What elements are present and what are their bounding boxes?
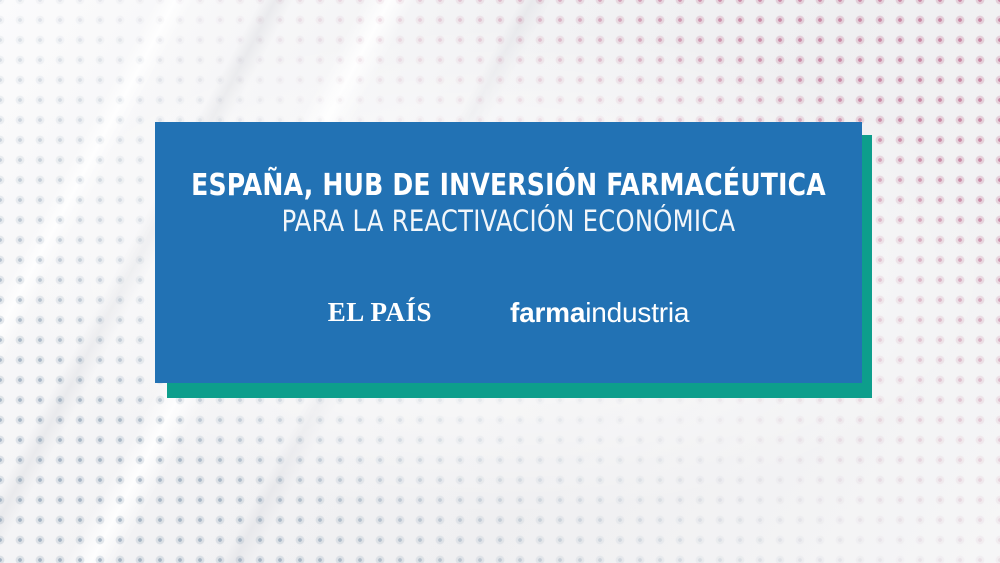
logo-farmaindustria: farmaindustria — [510, 297, 689, 329]
logo-farmaindustria-light-part: industria — [585, 297, 689, 328]
logo-row: EL PAÍS farmaindustria — [155, 297, 862, 329]
logo-farmaindustria-bold-part: farma — [510, 297, 585, 328]
slide-stage: ESPAÑA, HUB DE INVERSIÓN FARMACÉUTICA PA… — [0, 0, 1000, 563]
title-card: ESPAÑA, HUB DE INVERSIÓN FARMACÉUTICA PA… — [155, 122, 862, 383]
page-title-primary: ESPAÑA, HUB DE INVERSIÓN FARMACÉUTICA — [180, 170, 838, 202]
title-block: ESPAÑA, HUB DE INVERSIÓN FARMACÉUTICA PA… — [155, 170, 862, 241]
logo-el-pais: EL PAÍS — [328, 297, 432, 328]
page-title-secondary: PARA LA REACTIVACIÓN ECONÓMICA — [180, 202, 838, 240]
